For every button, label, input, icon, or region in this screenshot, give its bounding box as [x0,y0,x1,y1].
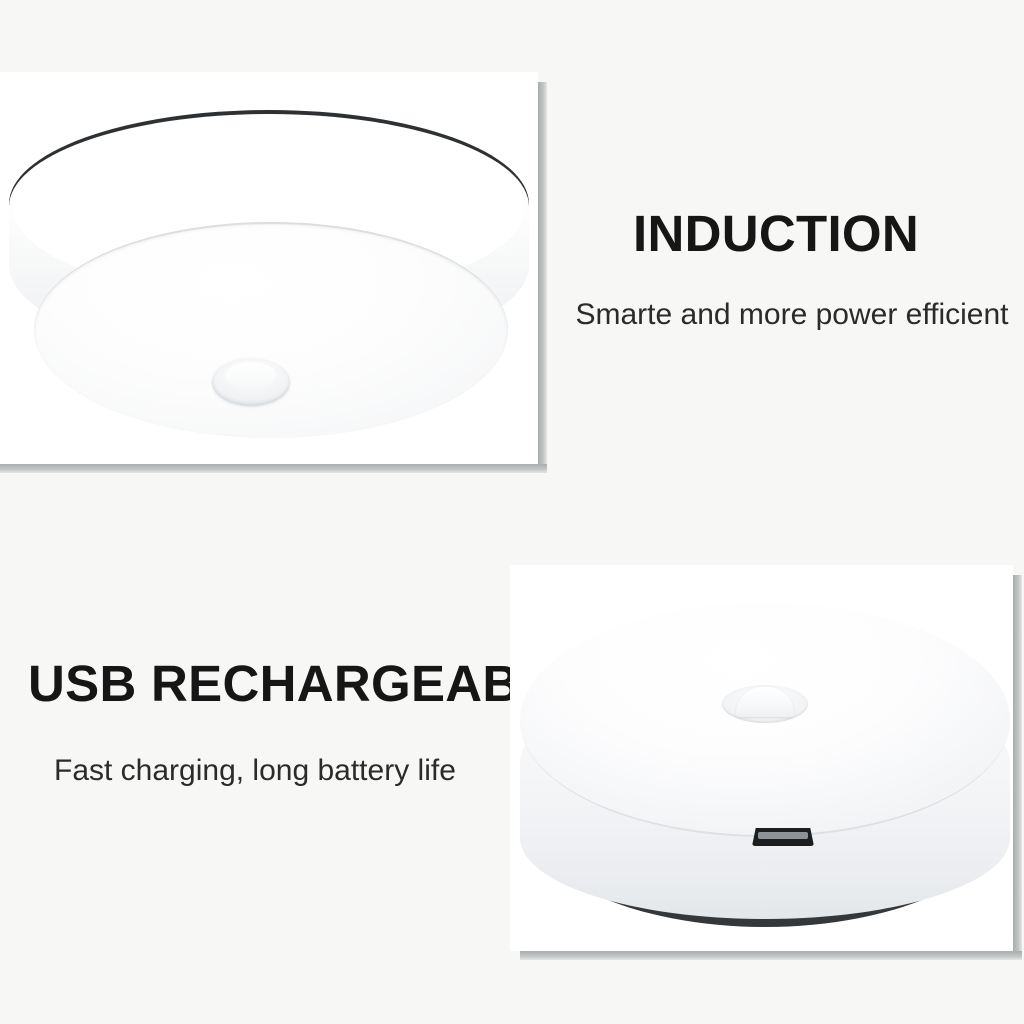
feature-text-induction: INDUCTION Smarte and more power efficien… [633,206,913,334]
puck-lens-edge [34,222,508,438]
feature-subtitle-induction: Smarte and more power efficient [567,296,1017,334]
photo-panel-top-shadow-bottom [0,464,547,473]
photo-panel-bottom-shadow-right [1013,575,1022,960]
product-photo-panel-induction [0,72,538,464]
micro-usb-port-contact [758,832,808,839]
pir-sensor-dome [226,362,276,388]
product-image-puck-light-underside [4,110,534,440]
feature-subtitle-usb-rechargeable: Fast charging, long battery life [54,752,585,790]
feature-title-usb-rechargeable: USB RECHARGEABLE [28,656,585,712]
photo-panel-top-shadow-right [538,82,547,472]
product-photo-panel-usb-rechargeable [510,565,1013,951]
product-image-puck-light-top [518,603,1012,933]
feature-text-usb-rechargeable: USB RECHARGEABLE Fast charging, long bat… [28,656,585,790]
feature-title-induction: INDUCTION [633,206,913,262]
photo-panel-bottom-shadow-bottom [520,951,1022,960]
